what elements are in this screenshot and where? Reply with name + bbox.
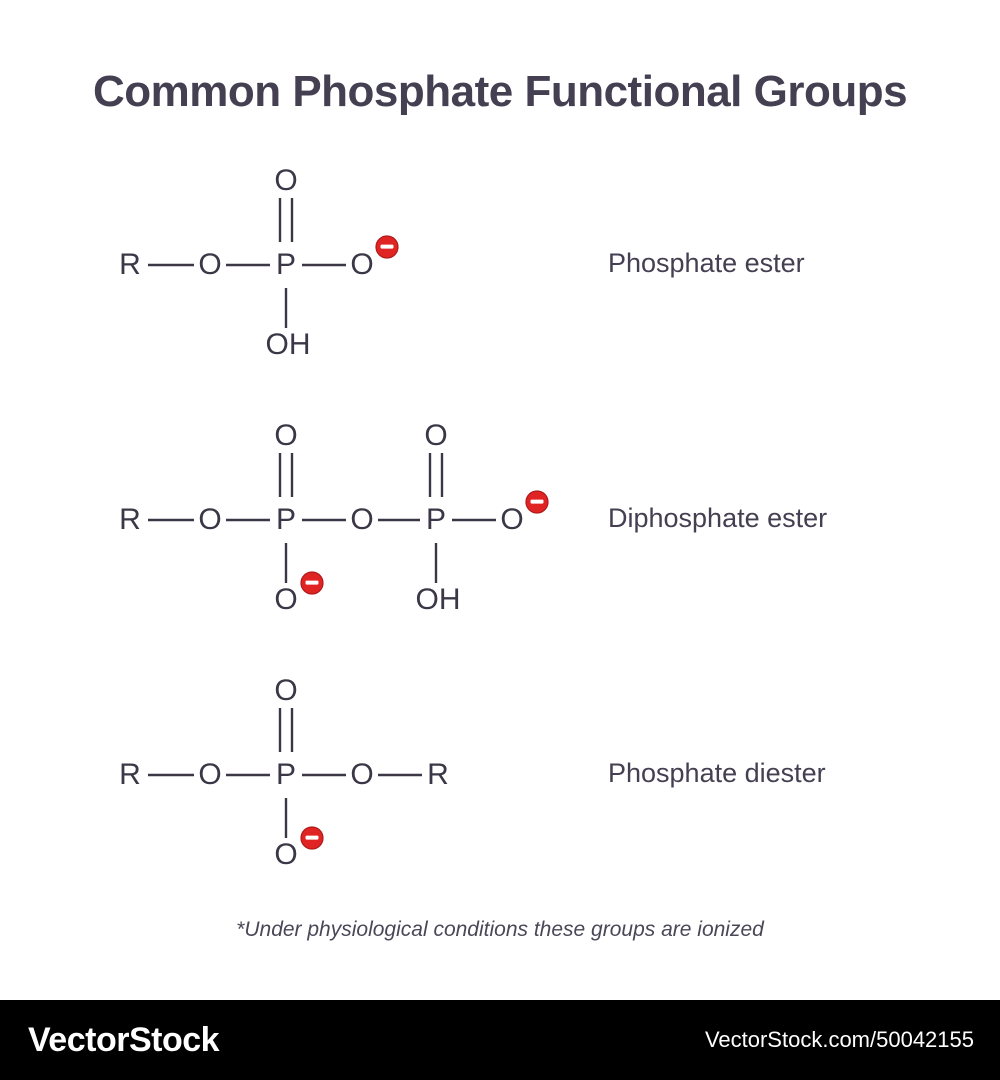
atom-p1: P	[276, 503, 296, 536]
atom-o-bottom-p1: O	[274, 583, 297, 616]
atom-r: R	[119, 503, 141, 536]
diagram-page: Common Phosphate Functional Groups R O P…	[0, 0, 1000, 1080]
structure-diagram-phosphate-ester: R O P O O OH	[60, 150, 580, 380]
structure-row-phosphate-diester: R O P O R O O Phosphate diester	[0, 660, 1000, 890]
structure-label-phosphate-diester: Phosphate diester	[608, 758, 826, 789]
vectorstock-logo: VectorStock	[28, 1021, 219, 1060]
structure-label-phosphate-ester: Phosphate ester	[608, 248, 805, 279]
atom-r1: R	[119, 758, 141, 791]
vectorstock-url: VectorStock.com/50042155	[705, 1027, 974, 1053]
watermark-bar: VectorStock VectorStock.com/50042155	[0, 1000, 1000, 1080]
atom-o-terminal: O	[500, 503, 523, 536]
negative-charge-icon	[301, 827, 323, 849]
atom-p2: P	[426, 503, 446, 536]
atom-o-ester: O	[198, 248, 221, 281]
atom-p: P	[276, 758, 296, 791]
atom-o-ester: O	[198, 503, 221, 536]
negative-charge-icon-terminal	[526, 491, 548, 513]
negative-charge-icon-bottom	[301, 572, 323, 594]
footnote-text: *Under physiological conditions these gr…	[0, 918, 1000, 942]
atom-o-bridge: O	[350, 503, 373, 536]
atom-oh-p2: OH	[416, 583, 461, 616]
atom-o1: O	[198, 758, 221, 791]
atom-p: P	[276, 248, 296, 281]
page-title: Common Phosphate Functional Groups	[0, 67, 1000, 117]
atom-r2: R	[427, 758, 449, 791]
structure-row-phosphate-ester: R O P O O OH Phosphate ester	[0, 150, 1000, 380]
atom-o-double-p1: O	[274, 419, 297, 452]
atom-o-double: O	[274, 164, 297, 197]
structure-row-diphosphate-ester: R O P O P O O O O OH Diph	[0, 405, 1000, 635]
atom-oh: OH	[266, 328, 311, 361]
atom-o-terminal: O	[350, 248, 373, 281]
atom-o-bottom: O	[274, 838, 297, 871]
atom-r: R	[119, 248, 141, 281]
structure-label-diphosphate-ester: Diphosphate ester	[608, 503, 827, 534]
negative-charge-icon	[376, 236, 398, 258]
atom-o2: O	[350, 758, 373, 791]
structure-diagram-diphosphate-ester: R O P O P O O O O OH	[60, 405, 580, 635]
atom-o-double-p2: O	[424, 419, 447, 452]
structure-diagram-phosphate-diester: R O P O R O O	[60, 660, 580, 890]
structures-container: R O P O O OH Phosphate ester	[0, 130, 1000, 900]
atom-o-double: O	[274, 674, 297, 707]
